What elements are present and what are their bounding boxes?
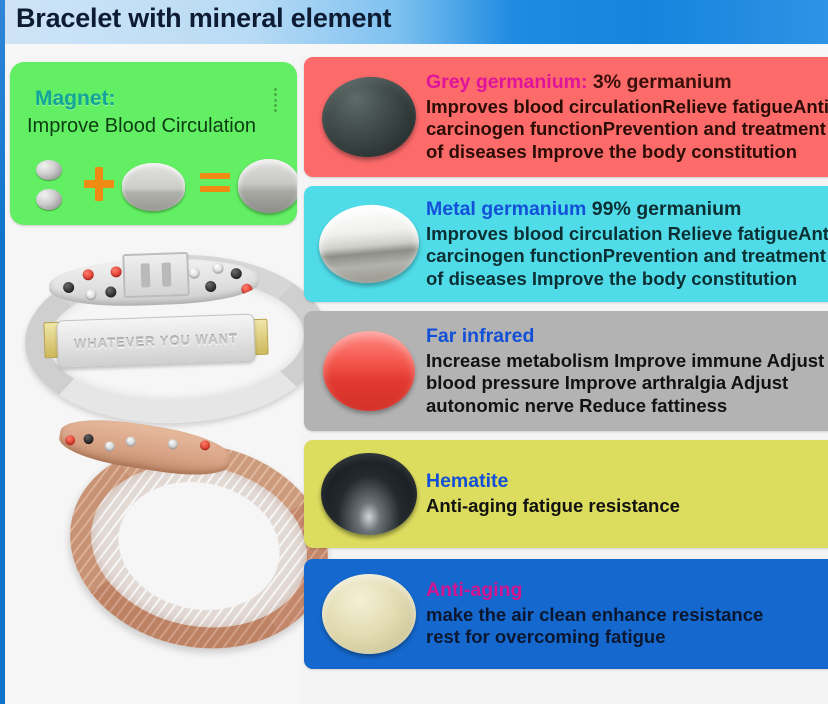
hematite-text: Hematite Anti-aging fatigue resistance	[426, 440, 828, 548]
engraving-text: WHATEVER YOU WANT	[74, 331, 238, 352]
anti-aging-disc-box	[314, 559, 424, 669]
medium-magnet-disc-icon	[122, 163, 185, 211]
far-infrared-disc	[323, 331, 415, 411]
anti-aging-disc	[322, 574, 416, 654]
panel-heading-amount: 99% germanium	[586, 198, 741, 220]
page-title: Bracelet with mineral element	[16, 3, 391, 34]
hematite-disc	[321, 453, 417, 535]
plus-sign-icon	[84, 167, 114, 201]
panel-heading: Hematite	[426, 470, 828, 494]
panel-body: Increase metabolism Improve immune Adjus…	[426, 350, 828, 418]
magnet-card-subtitle: Improve Blood Circulation	[27, 115, 256, 138]
silver-bracelet-id-plate: WHATEVER YOU WANT	[56, 314, 256, 369]
metal-germanium-disc	[316, 201, 422, 287]
left-blue-rail	[0, 0, 5, 704]
title-underbar	[5, 44, 828, 55]
small-magnet-disc-icon	[36, 189, 62, 210]
panel-body: Improves blood circulationRelieve fatigu…	[426, 96, 828, 164]
grey-germanium-disc-box	[314, 57, 424, 177]
panel-hematite[interactable]: Hematite Anti-aging fatigue resistance	[304, 440, 828, 548]
panel-heading: Grey germanium: 3% germanium	[426, 71, 828, 95]
hematite-disc-box	[314, 440, 424, 548]
panel-heading: Anti-aging	[426, 579, 828, 603]
infographic-root: Bracelet with mineral element Magnet: Im…	[0, 0, 828, 704]
left-column: Magnet: Improve Blood Circulation	[5, 55, 300, 704]
magnet-card: Magnet: Improve Blood Circulation	[10, 62, 297, 225]
panel-heading-lead: Metal germanium	[426, 198, 586, 220]
panel-heading-lead: Hematite	[426, 470, 508, 492]
metal-germanium-disc-box	[314, 186, 424, 302]
assembled-magnet-disc-icon	[238, 159, 297, 213]
panel-heading-amount: 3% germanium	[587, 71, 731, 93]
panel-heading-lead: Far infrared	[426, 325, 534, 347]
small-magnet-disc-icon	[36, 160, 62, 180]
panel-heading: Metal germanium 99% germanium	[426, 198, 828, 222]
magnet-equation-row	[10, 158, 297, 222]
grey-germanium-text: Grey germanium: 3% germanium Improves bl…	[426, 57, 828, 177]
dotted-artifact-icon	[274, 88, 278, 112]
panel-body: Anti-aging fatigue resistance	[426, 495, 828, 518]
magnet-card-title: Magnet:	[35, 87, 116, 111]
mineral-panels-column: Grey germanium: 3% germanium Improves bl…	[300, 55, 828, 704]
silver-bracelet-clasp	[122, 252, 189, 298]
title-bar: Bracelet with mineral element	[0, 0, 828, 44]
panel-metal-germanium[interactable]: Metal germanium 99% germanium Improves b…	[304, 186, 828, 302]
panel-grey-germanium[interactable]: Grey germanium: 3% germanium Improves bl…	[304, 57, 828, 177]
panel-heading-lead: Anti-aging	[426, 579, 522, 601]
far-infrared-disc-box	[314, 311, 424, 431]
panel-heading-lead: Grey germanium:	[426, 71, 587, 93]
grey-germanium-disc	[318, 72, 420, 161]
panel-heading: Far infrared	[426, 325, 828, 349]
copper-bracelet-photo	[45, 403, 305, 643]
anti-aging-text: Anti-aging make the air clean enhance re…	[426, 559, 828, 669]
panel-far-infrared[interactable]: Far infrared Increase metabolism Improve…	[304, 311, 828, 431]
silver-bracelet-photo: WHATEVER YOU WANT	[11, 241, 296, 393]
metal-germanium-text: Metal germanium 99% germanium Improves b…	[426, 186, 828, 302]
equals-sign-icon	[200, 173, 230, 195]
panel-body: Improves blood circulation Relieve fatig…	[426, 223, 828, 291]
panel-body: make the air clean enhance resistance re…	[426, 604, 828, 649]
far-infrared-text: Far infrared Increase metabolism Improve…	[426, 311, 828, 431]
panel-anti-aging[interactable]: Anti-aging make the air clean enhance re…	[304, 559, 828, 669]
